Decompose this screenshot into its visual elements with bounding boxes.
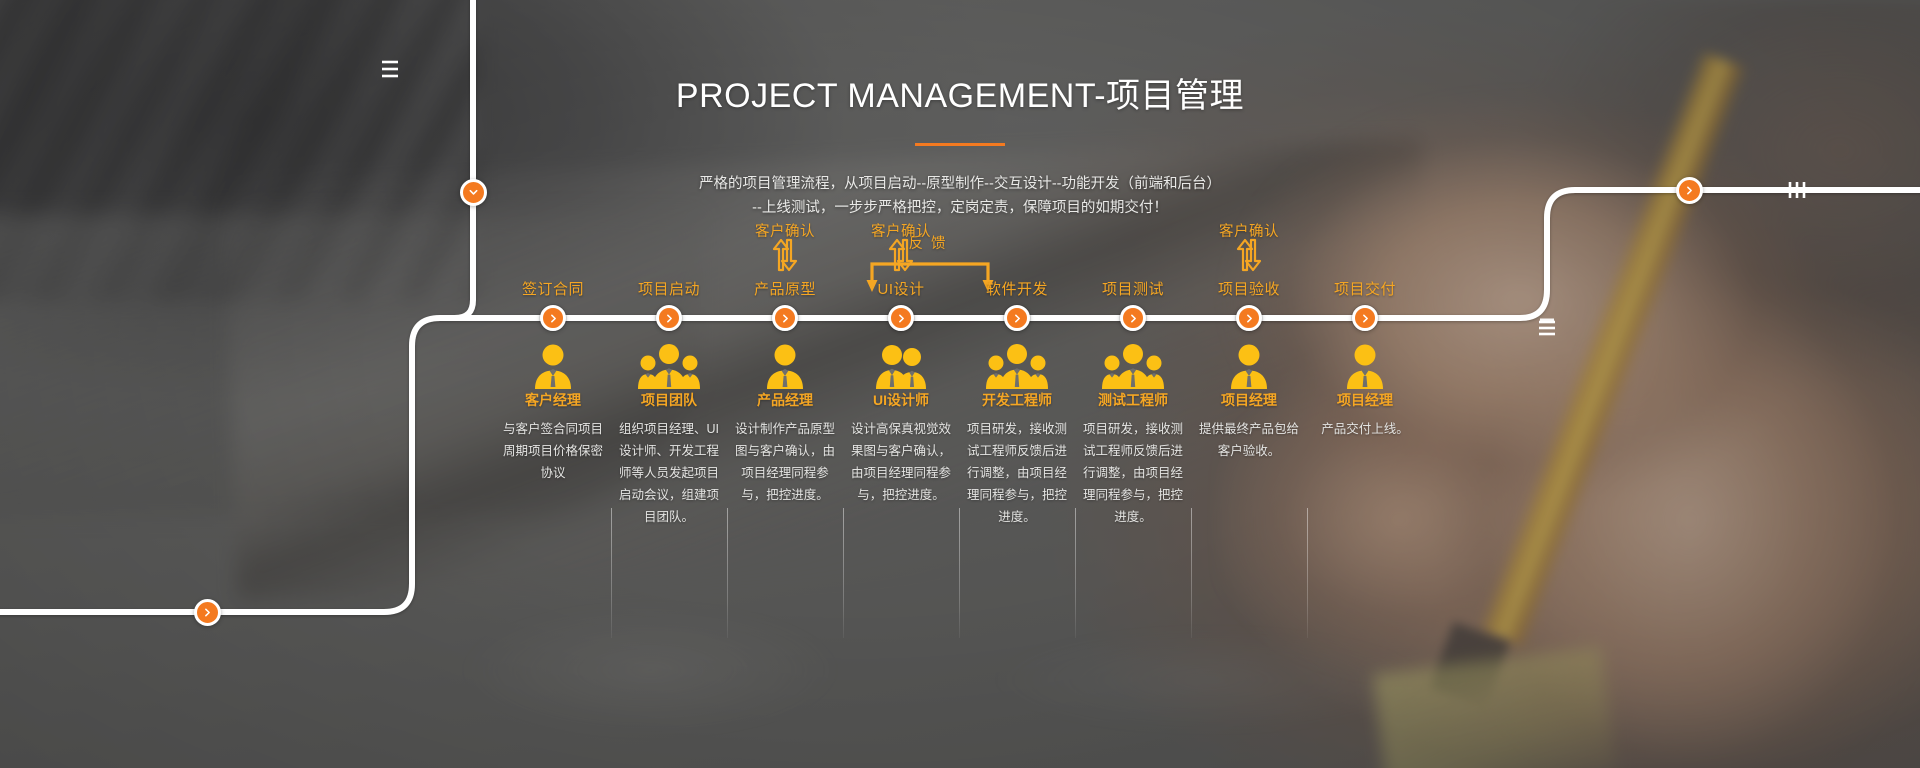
- column-divider: [959, 508, 960, 638]
- group-three-person-icon: [611, 341, 727, 389]
- up-down-arrows-icon: [1191, 238, 1307, 272]
- step-node[interactable]: [888, 305, 914, 331]
- single-person-icon: [1307, 341, 1423, 389]
- step-label: 项目验收: [1191, 278, 1307, 299]
- role-name: 项目团队: [611, 390, 727, 410]
- chevron-right-icon: [664, 313, 675, 324]
- role-name: UI设计师: [843, 390, 959, 410]
- page-title: PROJECT MANAGEMENT-项目管理: [0, 68, 1920, 117]
- column-divider: [1191, 508, 1192, 638]
- slide-stage: PROJECT MANAGEMENT-项目管理 严格的项目管理流程，从项目启动-…: [0, 0, 1920, 768]
- two-person-icon: [843, 341, 959, 389]
- role-name: 开发工程师: [959, 390, 1075, 410]
- step-description: 产品交付上线。: [1309, 418, 1421, 440]
- role-name: 产品经理: [727, 390, 843, 410]
- step-label: UI设计: [843, 278, 959, 299]
- role-name: 测试工程师: [1075, 390, 1191, 410]
- step-node[interactable]: [1120, 305, 1146, 331]
- step-description: 项目研发，接收测试工程师反馈后进行调整，由项目经理同程参与，把控进度。: [961, 418, 1073, 528]
- step-label: 软件开发: [959, 278, 1075, 299]
- chevron-right-icon: [1360, 313, 1371, 324]
- step-node[interactable]: [1352, 305, 1378, 331]
- step-label: 项目测试: [1075, 278, 1191, 299]
- timeline: 签订合同 客户经理 与客户签合同项目周期项目价格保密协议 项目启动: [495, 268, 1425, 698]
- up-down-arrows-icon: [727, 238, 843, 272]
- step-label: 项目交付: [1307, 278, 1423, 299]
- group-three-person-icon: [959, 341, 1075, 389]
- step-description: 与客户签合同项目周期项目价格保密协议: [497, 418, 609, 484]
- role-name: 客户经理: [495, 390, 611, 410]
- step-description: 设计制作产品原型图与客户确认，由项目经理同程参与，把控进度。: [729, 418, 841, 506]
- step-description: 组织项目经理、UI设计师、开发工程师等人员发起项目启动会议，组建项目团队。: [613, 418, 725, 528]
- step-node[interactable]: [540, 305, 566, 331]
- column-divider: [727, 508, 728, 638]
- header: PROJECT MANAGEMENT-项目管理 严格的项目管理流程，从项目启动-…: [0, 0, 1920, 220]
- group-three-person-icon: [1075, 341, 1191, 389]
- subtitle: 严格的项目管理流程，从项目启动--原型制作--交互设计--功能开发（前端和后台）…: [0, 172, 1920, 220]
- column-divider: [1307, 508, 1308, 638]
- chevron-right-icon: [548, 313, 559, 324]
- step-description: 设计高保真视觉效果图与客户确认，由项目经理同程参与，把控进度。: [845, 418, 957, 506]
- chevron-right-icon: [780, 313, 791, 324]
- subtitle-line-2: --上线测试，一步步严格把控，定岗定责，保障项目的如期交付！: [0, 196, 1920, 220]
- single-person-icon: [727, 341, 843, 389]
- step-description: 项目研发，接收测试工程师反馈后进行调整，由项目经理同程参与，把控进度。: [1077, 418, 1189, 528]
- step-label: 签订合同: [495, 278, 611, 299]
- chevron-right-icon: [896, 313, 907, 324]
- chevron-right-icon: [1244, 313, 1255, 324]
- bottom-left-chevron-right-node[interactable]: [194, 599, 221, 626]
- single-person-icon: [495, 341, 611, 389]
- step-label: 项目启动: [611, 278, 727, 299]
- single-person-icon: [1191, 341, 1307, 389]
- chevron-right-icon: [1128, 313, 1139, 324]
- up-down-arrows-icon: [843, 238, 959, 272]
- column-divider: [843, 508, 844, 638]
- subtitle-line-1: 严格的项目管理流程，从项目启动--原型制作--交互设计--功能开发（前端和后台）: [0, 172, 1920, 196]
- step-node[interactable]: [1236, 305, 1262, 331]
- chevron-right-icon: [1012, 313, 1023, 324]
- column-divider: [611, 508, 612, 638]
- step-node[interactable]: [1004, 305, 1030, 331]
- chevron-right-icon: [202, 607, 213, 618]
- role-name: 项目经理: [1307, 390, 1423, 410]
- step-description: 提供最终产品包给客户验收。: [1193, 418, 1305, 462]
- column-divider: [1075, 508, 1076, 638]
- step-node[interactable]: [772, 305, 798, 331]
- step-node[interactable]: [656, 305, 682, 331]
- title-underline: [915, 143, 1005, 146]
- role-name: 项目经理: [1191, 390, 1307, 410]
- step-label: 产品原型: [727, 278, 843, 299]
